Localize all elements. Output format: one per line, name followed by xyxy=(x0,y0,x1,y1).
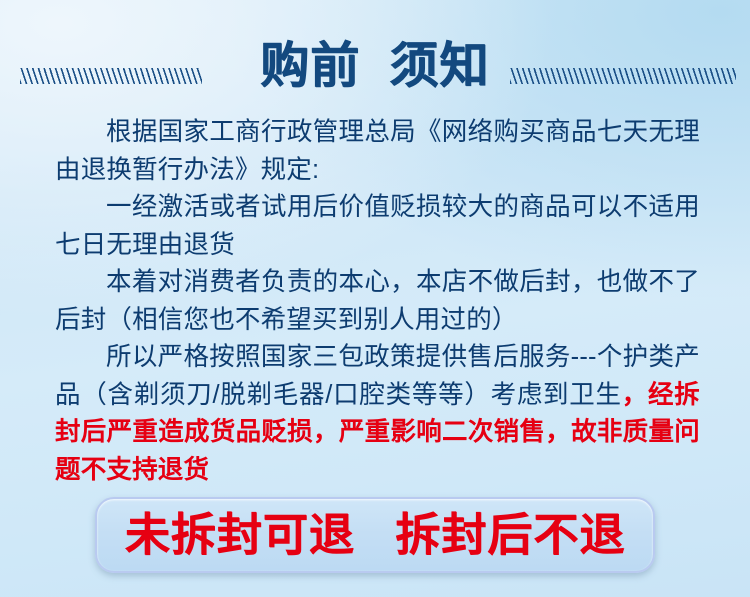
after-sales-blue-text: 所以严格按照国家三包政策提供售后服务---个护类产品（含剃须刀/脱剃毛器/口腔类… xyxy=(55,343,700,409)
notice-body: 根据国家工商行政管理总局《网络购买商品七天无理由退换暂行办法》规定: 一经激活或… xyxy=(55,114,700,489)
return-policy-banner-text: 未拆封可退 拆封后不退 xyxy=(125,510,626,560)
paragraph-activation-clause: 一经激活或者试用后价值贬损较大的商品可以不适用七日无理由退货 xyxy=(55,189,700,264)
header: 购前 须知 xyxy=(0,22,750,96)
notice-page: 购前 须知 根据国家工商行政管理总局《网络购买商品七天无理由退换暂行办法》规定:… xyxy=(0,0,750,597)
page-title: 购前 须知 xyxy=(0,38,750,94)
paragraph-no-reseal-clause: 本着对消费者负责的本心，本店不做后封，也做不了后封（相信您也不希望买到别人用过的… xyxy=(55,264,700,339)
return-policy-banner: 未拆封可退 拆封后不退 xyxy=(95,497,655,573)
paragraph-regulation: 根据国家工商行政管理总局《网络购买商品七天无理由退换暂行办法》规定: xyxy=(55,114,700,189)
paragraph-after-sales-clause: 所以严格按照国家三包政策提供售后服务---个护类产品（含剃须刀/脱剃毛器/口腔类… xyxy=(55,339,700,489)
